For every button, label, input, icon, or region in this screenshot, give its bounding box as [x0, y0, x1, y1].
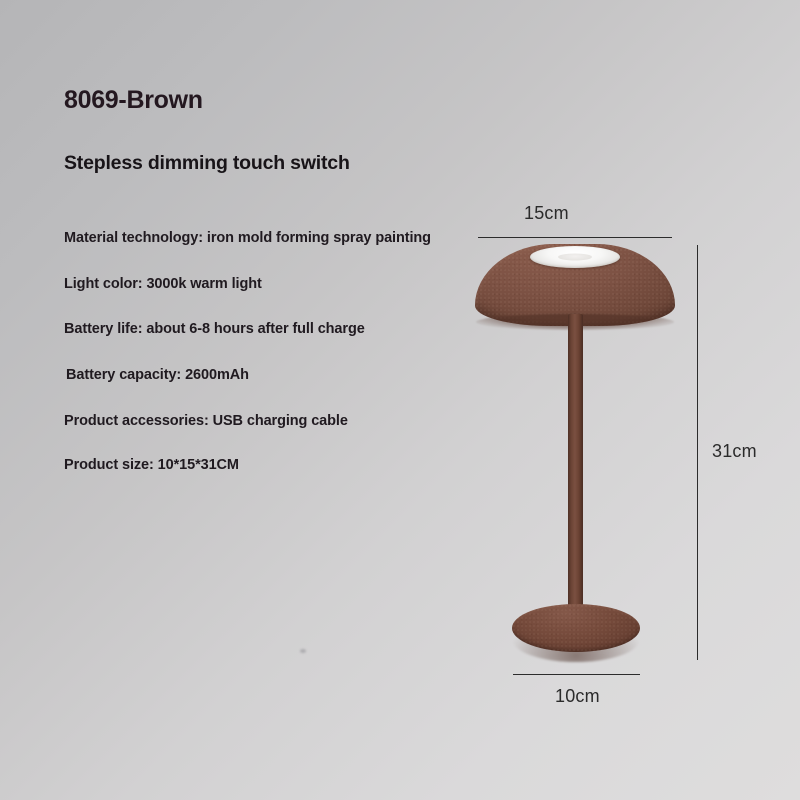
- product-subtitle: Stepless dimming touch switch: [64, 152, 350, 175]
- touch-switch-panel-highlight: [558, 254, 592, 261]
- dimension-line-width-bottom: [513, 674, 640, 675]
- product-image-lamp: [455, 230, 695, 670]
- spec-item-light-color: Light color: 3000k warm light: [64, 276, 262, 292]
- lamp-stem: [568, 314, 583, 612]
- product-spec-page: 8069-Brown Stepless dimming touch switch…: [0, 0, 800, 800]
- spec-item-battery-capacity: Battery capacity: 2600mAh: [66, 367, 249, 383]
- lamp-base: [512, 604, 640, 652]
- dimension-label-height: 31cm: [712, 441, 757, 462]
- dimension-label-width-top: 15cm: [524, 203, 569, 224]
- lamp-base-texture: [512, 604, 640, 652]
- spec-item-product-size: Product size: 10*15*31CM: [64, 457, 239, 473]
- dimension-label-width-bottom: 10cm: [555, 686, 600, 707]
- dimension-line-width-top: [478, 237, 672, 238]
- spec-item-material: Material technology: iron mold forming s…: [64, 230, 431, 246]
- touch-switch-panel: [530, 246, 620, 268]
- spec-item-accessories: Product accessories: USB charging cable: [64, 413, 348, 429]
- product-title: 8069-Brown: [64, 86, 203, 115]
- background-speck: [300, 649, 306, 653]
- spec-item-battery-life: Battery life: about 6-8 hours after full…: [64, 321, 365, 337]
- dimension-line-height: [697, 245, 698, 660]
